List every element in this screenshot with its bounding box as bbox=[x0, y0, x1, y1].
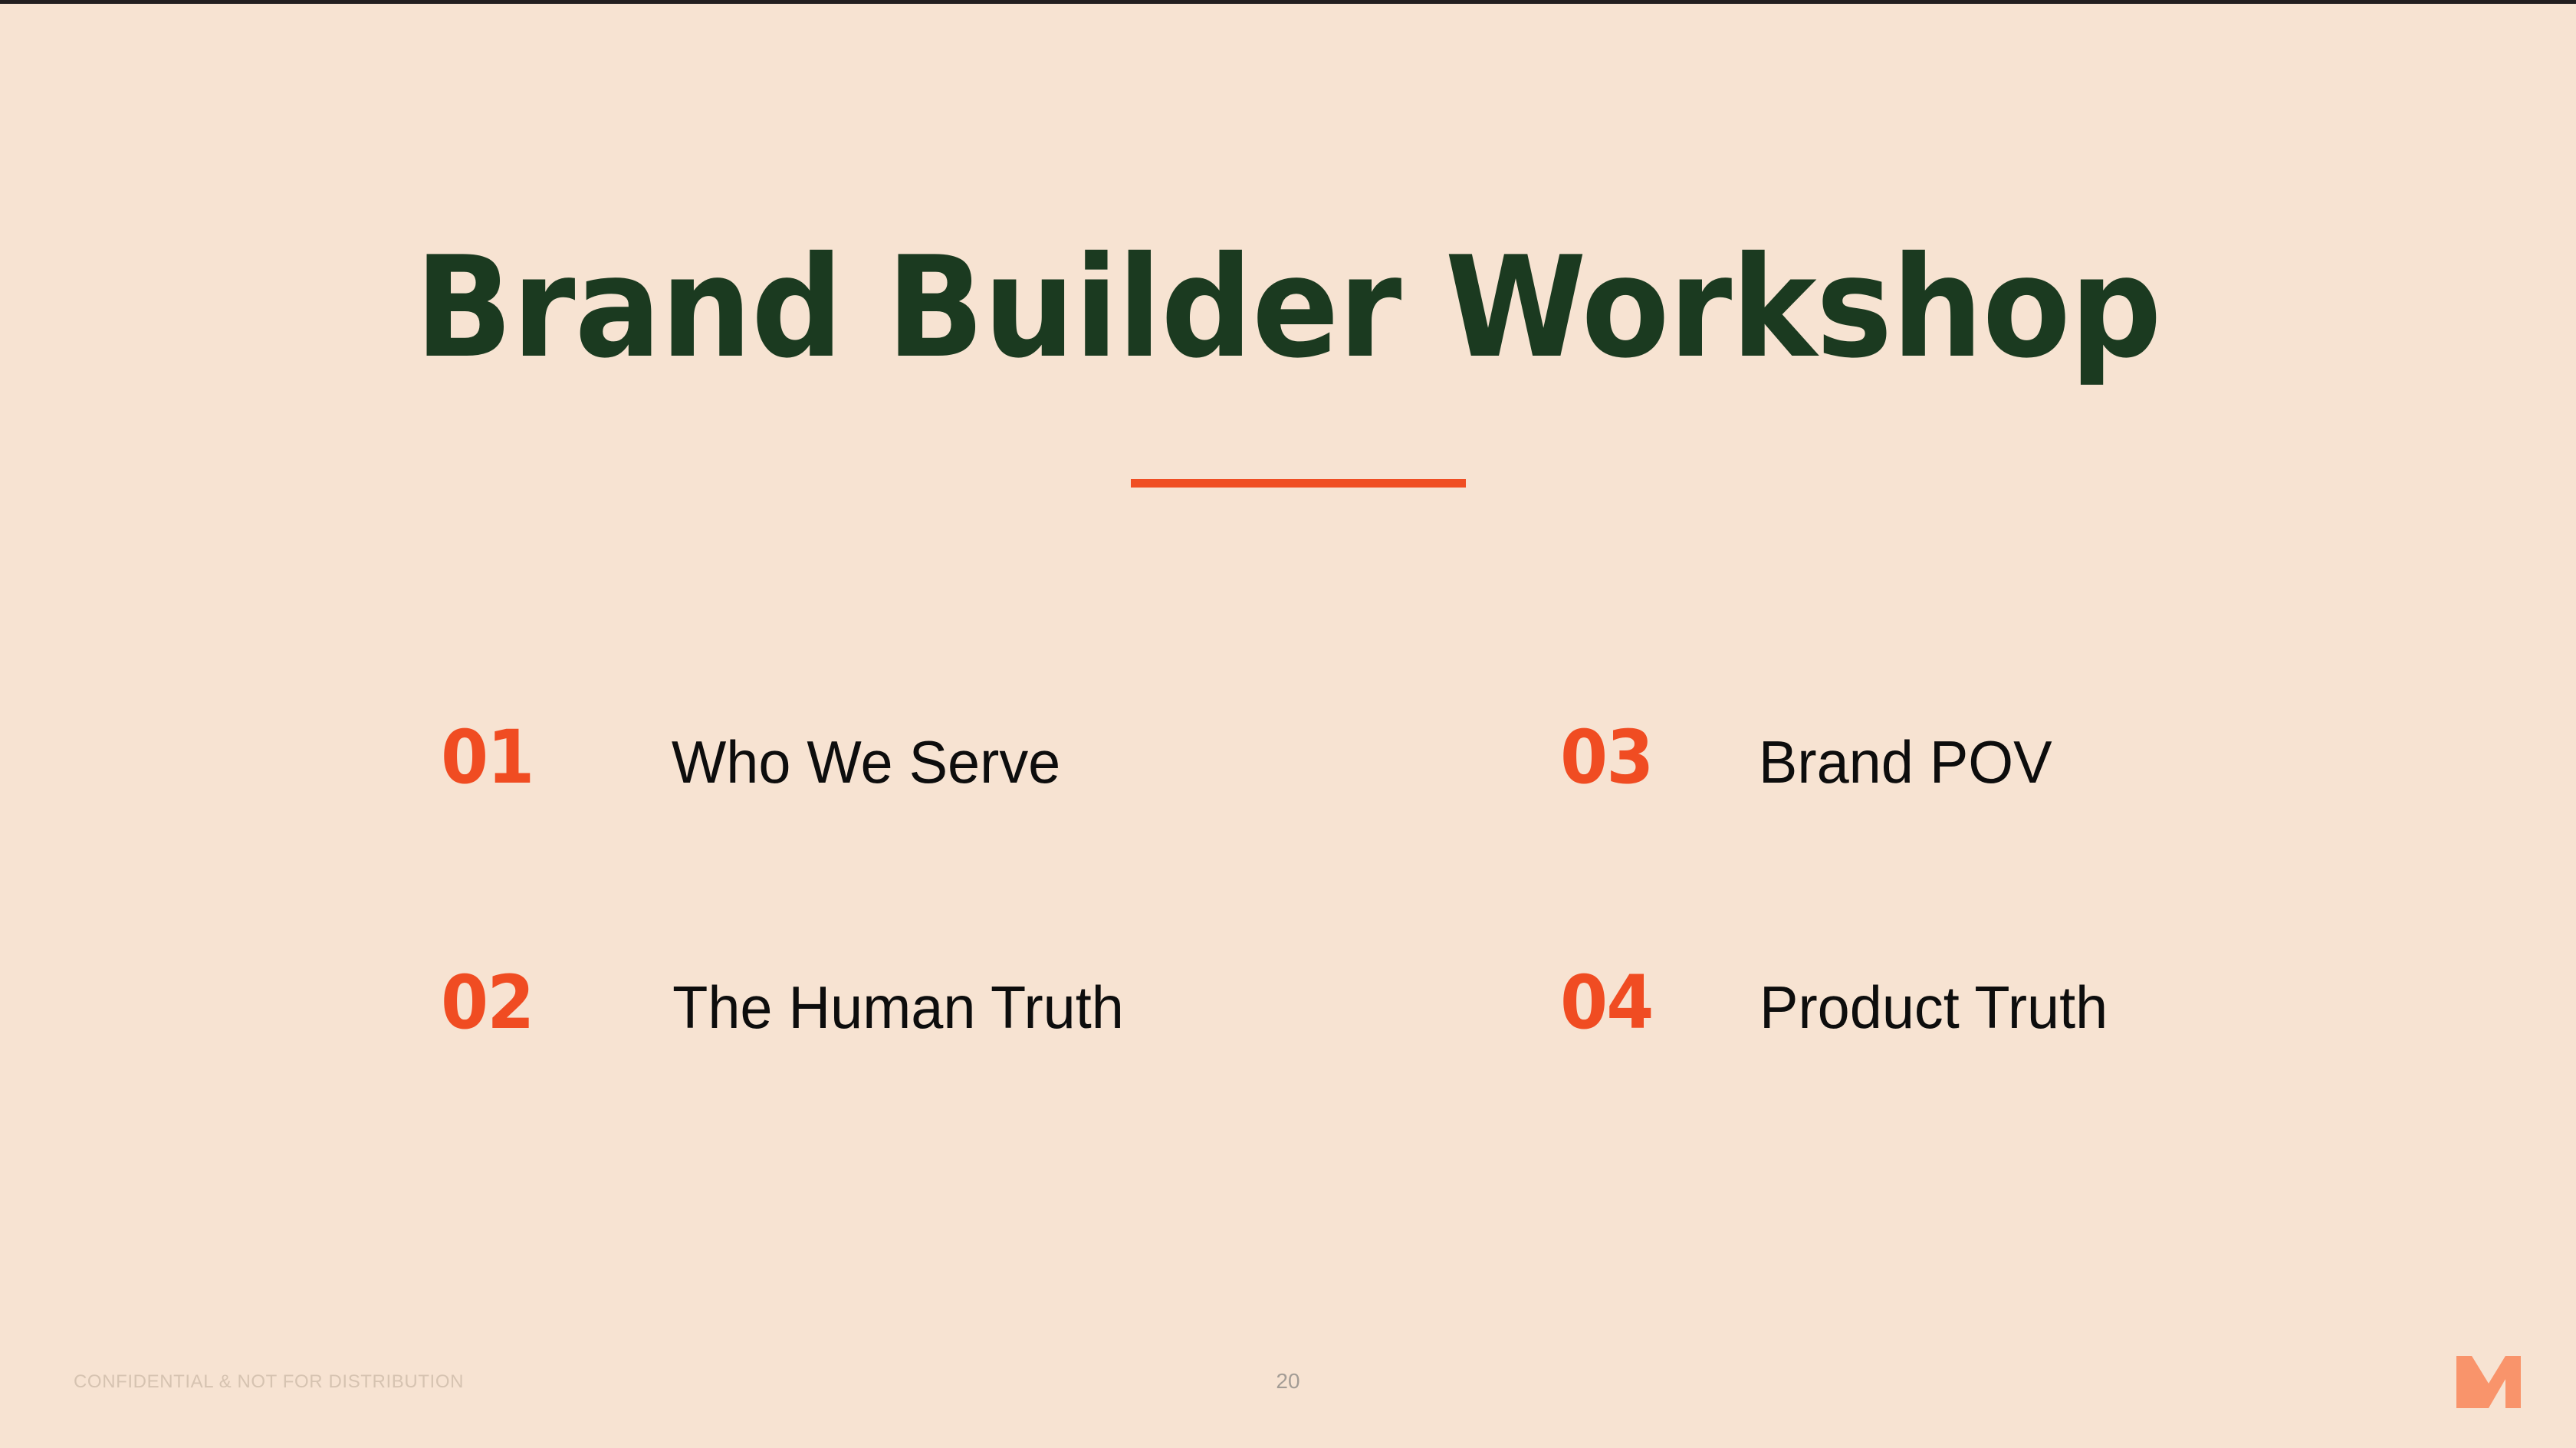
agenda-number-03: 03 bbox=[1560, 721, 1703, 794]
title-block: Brand Builder Workshop bbox=[0, 238, 2576, 377]
top-edge-rule bbox=[0, 0, 2576, 4]
agenda-label-01: Who We Serve bbox=[672, 732, 1060, 792]
page-title: Brand Builder Workshop bbox=[103, 238, 2472, 377]
agenda-label-04: Product Truth bbox=[1760, 977, 2108, 1037]
agenda-item-04[interactable]: 04 Product Truth bbox=[1555, 966, 2113, 1039]
agenda-number-02: 02 bbox=[441, 966, 583, 1039]
m-logo-icon bbox=[2452, 1353, 2525, 1411]
agenda-item-02[interactable]: 02 The Human Truth bbox=[435, 966, 1131, 1039]
agenda-label-03: Brand POV bbox=[1759, 732, 2052, 792]
agenda-item-01[interactable]: 01 Who We Serve bbox=[435, 721, 1066, 794]
agenda-list: 01 Who We Serve 02 The Human Truth 03 Br… bbox=[0, 721, 2576, 1180]
agenda-number-04: 04 bbox=[1560, 966, 1703, 1039]
slide-canvas: Brand Builder Workshop 01 Who We Serve 0… bbox=[0, 0, 2576, 1448]
agenda-label-02: The Human Truth bbox=[672, 977, 1124, 1037]
agenda-number-01: 01 bbox=[441, 721, 583, 794]
title-divider-rule bbox=[1131, 479, 1466, 488]
agenda-item-03[interactable]: 03 Brand POV bbox=[1555, 721, 2057, 794]
page-number: 20 bbox=[0, 1369, 2576, 1394]
